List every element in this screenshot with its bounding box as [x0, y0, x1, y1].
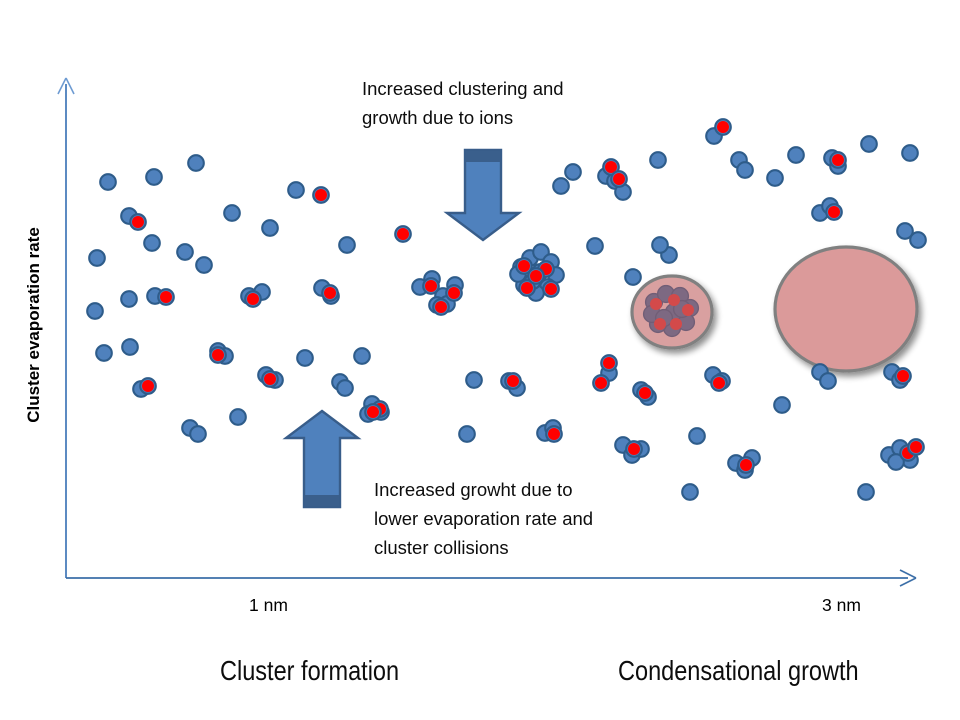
x-tick-label-1nm: 1 nm	[249, 595, 288, 616]
x-tick-label-3nm: 3 nm	[822, 595, 861, 616]
y-axis-label: Cluster evaporation rate	[24, 195, 44, 455]
figure-canvas: Increased clustering and growth due to i…	[0, 0, 960, 720]
up-arrow	[286, 411, 358, 507]
down-arrow	[447, 150, 519, 240]
caption-cluster-formation: Cluster formation	[220, 655, 399, 687]
annotation-top-text: Increased clustering and growth due to i…	[362, 74, 564, 132]
caption-condensational-growth: Condensational growth	[618, 655, 859, 687]
annotation-bottom-text: Increased growht due to lower evaporatio…	[374, 475, 593, 562]
